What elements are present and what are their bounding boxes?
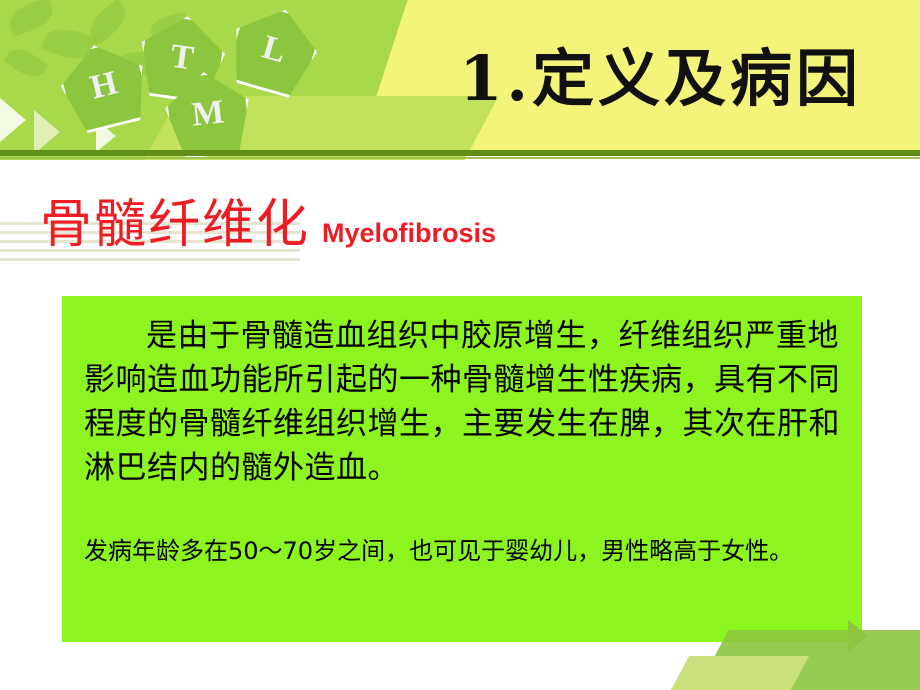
content-box: 是由于骨髓造血组织中胶原增生，纤维组织严重地影响造血功能所引起的一种骨髓增生性疾… bbox=[62, 296, 862, 642]
page-title: 1.定义及病因 bbox=[459, 28, 862, 118]
subtitle-english: Myelofibrosis bbox=[322, 218, 496, 249]
subtitle-chinese: 骨髓纤维化 bbox=[40, 182, 310, 257]
logo-letter-h: H bbox=[87, 64, 122, 107]
logo-letter-t: T bbox=[168, 38, 196, 79]
logo-letter-l: L bbox=[258, 29, 290, 72]
footer-chevron-icon bbox=[848, 620, 868, 652]
subtitle: 骨髓纤维化 Myelofibrosis bbox=[40, 182, 496, 257]
content-paragraph-1: 是由于骨髓造血组织中胶原增生，纤维组织严重地影响造血功能所引起的一种骨髓增生性疾… bbox=[84, 314, 840, 490]
chevron-icon-2 bbox=[34, 110, 60, 154]
content-paragraph-2: 发病年龄多在50～70岁之间，也可见于婴幼儿，男性略高于女性。 bbox=[84, 534, 840, 569]
footer-green-wedge-secondary bbox=[671, 656, 809, 690]
slide: H T M L 1.定义及病因 骨髓纤维化 Myelofibrosis 是由于骨… bbox=[0, 0, 920, 690]
chevron-icon-1 bbox=[0, 98, 26, 142]
logo-letter-m: M bbox=[190, 93, 226, 134]
slide-header: H T M L 1.定义及病因 bbox=[0, 0, 920, 160]
header-divider-line-secondary bbox=[0, 157, 920, 159]
header-divider-line bbox=[0, 150, 920, 156]
